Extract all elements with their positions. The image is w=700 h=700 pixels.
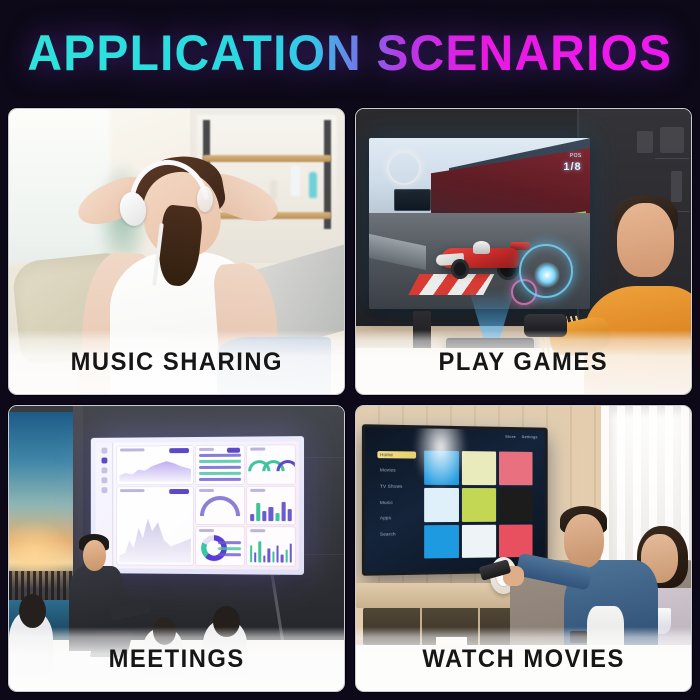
caption-text: PLAY GAMES	[439, 348, 609, 377]
hud-position-label: POS	[570, 153, 582, 159]
man-head	[564, 514, 604, 568]
tv-menu-item-tv-shows: TV Shows	[380, 484, 413, 489]
scenario-card-play-games[interactable]: POS 1/8 PLAY GAMES	[355, 108, 692, 395]
tv-menu-topbar: Store Settings	[505, 434, 537, 439]
card-caption-watch-movies: WATCH MOVIES	[356, 627, 691, 691]
race-car	[436, 233, 529, 284]
scenario-card-meetings[interactable]: MEETINGS	[8, 405, 345, 692]
card-caption-meetings: MEETINGS	[9, 627, 344, 691]
hud-position: POS 1/8	[563, 153, 581, 176]
widget-line-chart	[118, 487, 193, 565]
tv-menu-sidebar: Home Movies TV Shows Music Apps Search	[365, 427, 424, 573]
presentation-display	[91, 436, 305, 575]
widget-kpi-list	[196, 446, 244, 484]
tv-top-item-store: Store	[505, 434, 516, 439]
tv-tile	[462, 451, 496, 485]
tv-tile	[499, 524, 532, 558]
page-title: APPLICATION SCENARIOS	[28, 28, 673, 78]
widget-gauge	[196, 487, 244, 525]
scenario-card-watch-movies[interactable]: Store Settings Home Movies TV Shows Musi…	[355, 405, 692, 692]
billboard	[394, 189, 432, 211]
hud-position-value: 1/8	[563, 160, 581, 176]
caption-text: WATCH MOVIES	[422, 645, 625, 674]
presenter-head	[83, 540, 106, 571]
tv-tile-grid	[424, 428, 544, 571]
tv-tile	[499, 451, 532, 485]
tv-tile	[424, 488, 459, 522]
widget-bar-chart-wide	[247, 528, 295, 566]
caption-text: MEETINGS	[108, 645, 244, 674]
tv-tile	[499, 488, 532, 522]
widget-bar-chart	[247, 487, 295, 525]
widget-gauges	[247, 446, 295, 484]
card-caption-music-sharing: MUSIC SHARING	[9, 330, 344, 394]
gamer-head	[617, 203, 674, 277]
headphone-cup-right	[197, 186, 213, 212]
poster-root: APPLICATION SCENARIOS	[0, 0, 700, 700]
tv-tile	[424, 525, 459, 559]
widget-area-chart	[118, 446, 193, 484]
tv-top-item-settings: Settings	[521, 434, 537, 439]
tv-menu-item-search: Search	[380, 531, 413, 536]
tv-menu-item-music: Music	[380, 500, 413, 505]
hud-ring-icon	[387, 151, 421, 185]
projector-screen: POS 1/8	[369, 138, 590, 309]
tv-home-menu: Store Settings Home Movies TV Shows Musi…	[365, 427, 544, 573]
tv-tile	[462, 488, 496, 522]
tv-tile	[424, 450, 459, 484]
widget-donut-chart	[196, 528, 244, 566]
smart-tv: Store Settings Home Movies TV Shows Musi…	[362, 424, 547, 576]
tv-menu-item-apps: Apps	[380, 515, 413, 520]
page-title-wrap: APPLICATION SCENARIOS	[0, 0, 700, 106]
tv-tile	[462, 524, 496, 558]
tv-menu-item-movies: Movies	[380, 468, 413, 473]
card-caption-play-games: PLAY GAMES	[356, 330, 691, 394]
scenario-card-music-sharing[interactable]: MUSIC SHARING	[8, 108, 345, 395]
caption-text: MUSIC SHARING	[70, 348, 282, 377]
tv-menu-item-home: Home	[377, 451, 416, 459]
scenario-grid: MUSIC SHARING	[8, 108, 692, 692]
analytics-dashboard	[96, 442, 300, 570]
